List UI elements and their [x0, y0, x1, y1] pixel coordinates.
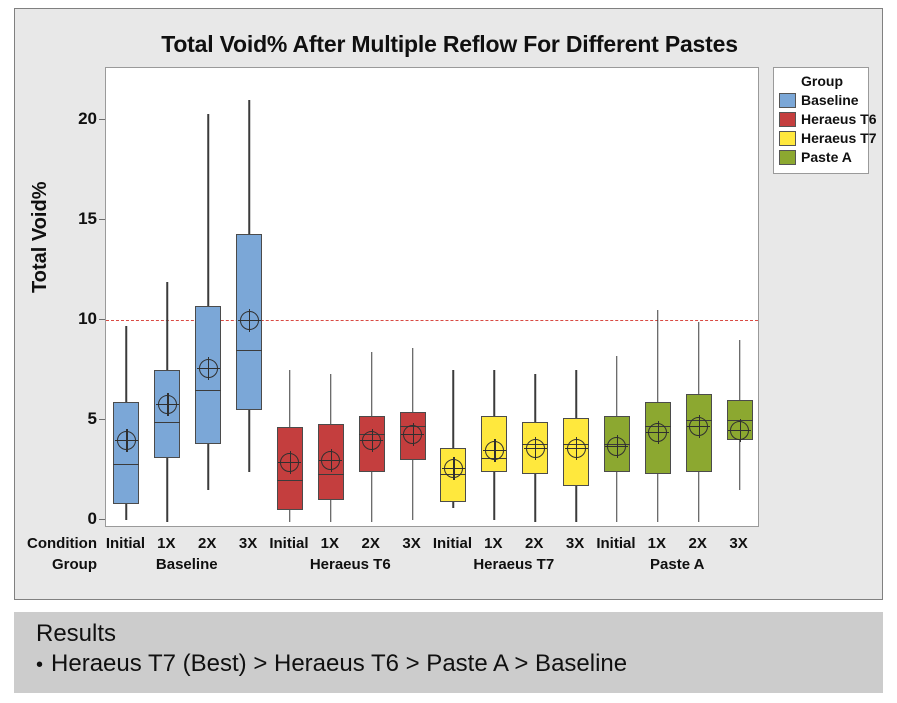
legend-item-heraeus-t7[interactable]: Heraeus T7	[779, 129, 863, 147]
whisker-upper	[330, 374, 332, 424]
y-tick-mark-0	[99, 519, 105, 520]
chart-title: Total Void% After Multiple Reflow For Di…	[15, 31, 884, 58]
x-condition-label-heraeus-t6-initial: Initial	[269, 535, 308, 552]
x-condition-label-paste-a-3x: 3X	[729, 535, 747, 552]
whisker-upper	[657, 310, 659, 402]
y-tick-mark-10	[99, 319, 105, 320]
x-condition-label-heraeus-t7-initial: Initial	[433, 535, 472, 552]
boxplot-baseline-1x[interactable]	[154, 68, 180, 528]
median-line	[154, 422, 180, 423]
x-condition-label-heraeus-t6-2x: 2X	[362, 535, 380, 552]
mean-marker	[117, 431, 136, 450]
legend-item-label: Paste A	[801, 149, 852, 165]
whisker-upper	[371, 352, 373, 416]
x-group-label-paste-a: Paste A	[650, 556, 704, 573]
legend-item-paste-a[interactable]: Paste A	[779, 148, 863, 166]
whisker-lower	[330, 500, 332, 522]
boxplot-heraeus-t7-initial[interactable]	[440, 68, 466, 528]
whisker-lower	[126, 504, 128, 520]
mean-marker	[730, 421, 749, 440]
whisker-upper	[207, 114, 209, 306]
x-condition-label-heraeus-t7-2x: 2X	[525, 535, 543, 552]
legend-title: Group	[801, 73, 863, 89]
x-condition-label-baseline-2x: 2X	[198, 535, 216, 552]
boxplot-heraeus-t6-3x[interactable]	[400, 68, 426, 528]
legend: Group BaselineHeraeus T6Heraeus T7Paste …	[773, 67, 869, 174]
slide-page: Total Void% After Multiple Reflow For Di…	[0, 0, 897, 703]
whisker-lower	[453, 502, 455, 508]
median-line	[113, 464, 139, 465]
whisker-lower	[248, 410, 250, 472]
boxplot-paste-a-3x[interactable]	[727, 68, 753, 528]
axis-row-title-group: Group	[17, 556, 97, 573]
mean-marker	[567, 439, 586, 458]
whisker-upper	[739, 340, 741, 400]
results-bullet-text: Heraeus T7 (Best) > Heraeus T6 > Paste A…	[51, 650, 627, 678]
boxplot-heraeus-t7-3x[interactable]	[563, 68, 589, 528]
whisker-lower	[371, 472, 373, 522]
median-line	[318, 474, 344, 475]
whisker-upper	[698, 322, 700, 394]
results-panel: Results • Heraeus T7 (Best) > Heraeus T6…	[14, 612, 883, 693]
legend-swatch-icon	[779, 112, 796, 127]
x-condition-label-paste-a-2x: 2X	[689, 535, 707, 552]
x-condition-label-heraeus-t6-3x: 3X	[402, 535, 420, 552]
box-iqr	[113, 402, 139, 504]
mean-marker	[403, 425, 422, 444]
mean-marker	[362, 431, 381, 450]
legend-items: BaselineHeraeus T6Heraeus T7Paste A	[779, 91, 863, 166]
mean-marker	[321, 451, 340, 470]
axis-row-title-condition: Condition	[17, 535, 97, 552]
whisker-lower	[412, 460, 414, 520]
x-condition-label-baseline-3x: 3X	[239, 535, 257, 552]
whisker-upper	[453, 370, 455, 448]
boxplot-paste-a-initial[interactable]	[604, 68, 630, 528]
whisker-upper	[412, 348, 414, 412]
whisker-lower	[739, 440, 741, 490]
boxplot-heraeus-t6-initial[interactable]	[277, 68, 303, 528]
boxplot-heraeus-t6-2x[interactable]	[359, 68, 385, 528]
legend-swatch-icon	[779, 150, 796, 165]
whisker-upper	[494, 370, 496, 416]
legend-swatch-icon	[779, 93, 796, 108]
y-tick-mark-5	[99, 419, 105, 420]
legend-swatch-icon	[779, 131, 796, 146]
whisker-lower	[616, 472, 618, 522]
y-tick-label-5: 5	[57, 409, 97, 429]
x-condition-label-heraeus-t7-3x: 3X	[566, 535, 584, 552]
boxplot-baseline-2x[interactable]	[195, 68, 221, 528]
boxplot-baseline-3x[interactable]	[236, 68, 262, 528]
legend-item-label: Heraeus T6	[801, 111, 876, 127]
boxplot-paste-a-1x[interactable]	[645, 68, 671, 528]
boxplot-baseline-initial[interactable]	[113, 68, 139, 528]
results-bullet-item: • Heraeus T7 (Best) > Heraeus T6 > Paste…	[36, 650, 883, 678]
plot-inner	[106, 68, 758, 526]
whisker-lower	[289, 510, 291, 522]
x-condition-label-baseline-initial: Initial	[106, 535, 145, 552]
x-condition-label-baseline-1x: 1X	[157, 535, 175, 552]
y-tick-label-10: 10	[57, 309, 97, 329]
y-tick-mark-20	[99, 119, 105, 120]
mean-marker	[526, 439, 545, 458]
mean-marker	[689, 417, 708, 436]
x-condition-label-paste-a-initial: Initial	[596, 535, 635, 552]
boxplot-heraeus-t6-1x[interactable]	[318, 68, 344, 528]
legend-item-label: Baseline	[801, 92, 859, 108]
mean-marker	[648, 423, 667, 442]
y-axis-title: Total Void%	[29, 182, 52, 293]
median-line	[236, 350, 262, 351]
median-line	[277, 480, 303, 481]
whisker-lower	[167, 458, 169, 522]
whisker-lower	[575, 486, 577, 522]
legend-item-label: Heraeus T7	[801, 130, 876, 146]
boxplot-heraeus-t7-1x[interactable]	[481, 68, 507, 528]
whisker-lower	[494, 472, 496, 520]
whisker-upper	[126, 326, 128, 402]
whisker-upper	[248, 100, 250, 234]
mean-marker	[485, 441, 504, 460]
plot-area	[105, 67, 759, 527]
x-condition-label-paste-a-1x: 1X	[648, 535, 666, 552]
mean-marker	[607, 437, 626, 456]
x-condition-label-heraeus-t6-1x: 1X	[321, 535, 339, 552]
boxplot-paste-a-2x[interactable]	[686, 68, 712, 528]
whisker-upper	[575, 370, 577, 418]
legend-item-heraeus-t6[interactable]: Heraeus T6	[779, 110, 863, 128]
whisker-upper	[289, 370, 291, 427]
whisker-lower	[207, 444, 209, 490]
y-tick-label-20: 20	[57, 109, 97, 129]
chart-panel: Total Void% After Multiple Reflow For Di…	[14, 8, 883, 600]
y-tick-label-15: 15	[57, 209, 97, 229]
median-line	[195, 390, 221, 391]
legend-item-baseline[interactable]: Baseline	[779, 91, 863, 109]
x-group-label-heraeus-t6: Heraeus T6	[310, 556, 391, 573]
whisker-upper	[616, 356, 618, 416]
mean-marker	[199, 359, 218, 378]
mean-marker	[158, 395, 177, 414]
boxplot-heraeus-t7-2x[interactable]	[522, 68, 548, 528]
y-tick-mark-15	[99, 219, 105, 220]
x-condition-label-heraeus-t7-1x: 1X	[484, 535, 502, 552]
y-tick-label-0: 0	[57, 509, 97, 529]
whisker-lower	[657, 474, 659, 522]
mean-marker	[444, 459, 463, 478]
whisker-lower	[534, 474, 536, 522]
x-group-label-heraeus-t7: Heraeus T7	[473, 556, 554, 573]
mean-marker	[240, 311, 259, 330]
results-title: Results	[36, 620, 883, 648]
mean-marker	[280, 453, 299, 472]
whisker-upper	[167, 282, 169, 370]
whisker-upper	[534, 374, 536, 422]
bullet-dot-icon: •	[36, 655, 43, 675]
x-group-label-baseline: Baseline	[156, 556, 218, 573]
whisker-lower	[698, 472, 700, 522]
